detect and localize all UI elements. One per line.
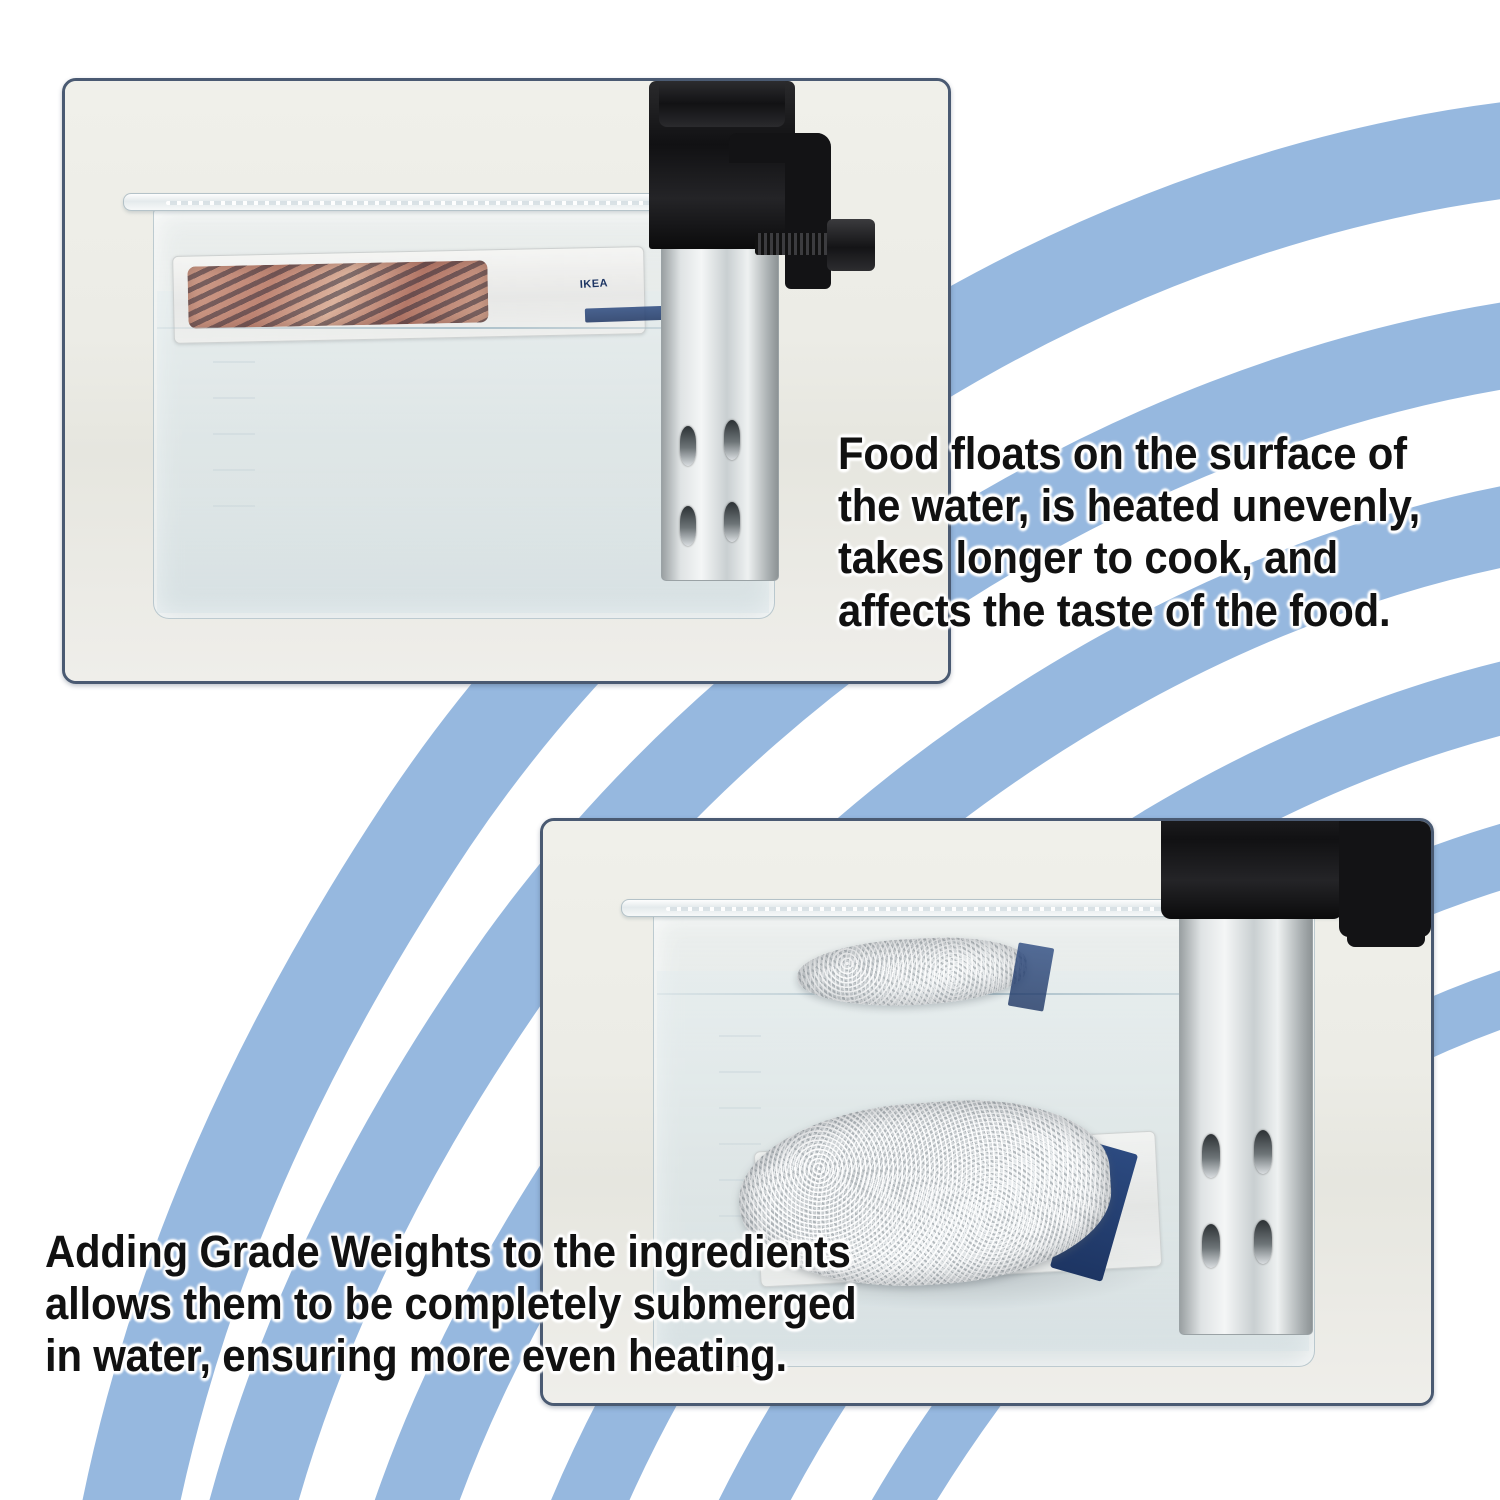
circulator-top-cap	[659, 78, 785, 127]
caption-line: takes longer to cook, and	[838, 532, 1489, 584]
caption-line: affects the taste of the food.	[838, 585, 1489, 637]
circulator-vent-slot	[724, 502, 740, 542]
problem-photo-image: IKEA	[65, 81, 948, 681]
bag-brand-mark: IKEA	[579, 277, 608, 291]
circulator-black-head	[1161, 818, 1343, 919]
problem-photo-panel: IKEA	[62, 78, 951, 684]
sous-vide-circulator	[661, 229, 779, 581]
caption-line: the water, is heated unevenly,	[838, 480, 1489, 532]
clamp-bracket-lower	[1347, 917, 1425, 947]
caption-line: Adding Grade Weights to the ingredients	[45, 1226, 975, 1278]
caption-line: Food floats on the surface of	[838, 428, 1489, 480]
circulator-vent-slot	[1254, 1130, 1272, 1174]
clamp-arm-top	[729, 133, 829, 163]
circulator-vent-slot	[1254, 1220, 1272, 1264]
circulator-vent-slot	[1202, 1224, 1220, 1268]
circulator-vent-slot	[680, 506, 696, 546]
circulator-vent-slot	[680, 426, 696, 466]
floating-vacuum-bag: IKEA	[172, 246, 646, 344]
sous-vide-circulator	[1179, 871, 1313, 1335]
meat-inside-bag	[187, 260, 488, 328]
circulator-vent-slot	[724, 420, 740, 460]
circulator-vent-slot	[1202, 1134, 1220, 1178]
clamp-knob	[827, 219, 875, 271]
caption-line: in water, ensuring more even heating.	[45, 1330, 975, 1382]
infographic-canvas: IKEA	[0, 0, 1500, 1500]
caption-line: allows them to be completely submerged	[45, 1278, 975, 1330]
solution-caption: Adding Grade Weights to the ingredients …	[45, 1226, 975, 1383]
problem-caption: Food floats on the surface of the water,…	[838, 428, 1489, 637]
